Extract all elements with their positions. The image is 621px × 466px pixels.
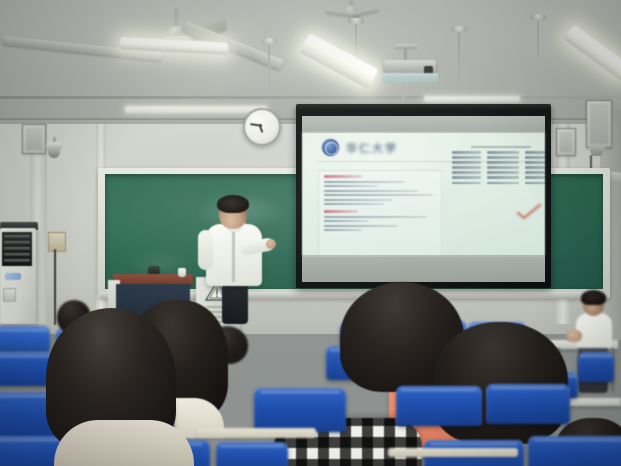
slide-table-cell — [452, 156, 481, 159]
slide-table-cell — [452, 166, 481, 169]
slide-table-cell — [452, 171, 481, 174]
wall-utility-box — [22, 124, 46, 154]
slide-table-row — [452, 161, 545, 164]
slide-table-cell — [487, 176, 519, 179]
slide-table-row — [452, 171, 545, 174]
slide-heading-mark — [324, 175, 362, 178]
slide-table-cell — [525, 156, 545, 159]
university-seal-logo — [322, 139, 339, 156]
slide-text-line — [324, 216, 427, 218]
slide-table-cell — [525, 182, 545, 185]
slide-text-line — [324, 194, 433, 196]
slide-text-line — [324, 199, 393, 201]
auditorium-seat[interactable] — [396, 386, 482, 426]
slide-table-row — [452, 182, 545, 185]
light-mount — [262, 38, 277, 44]
seat-tabletop — [196, 428, 316, 438]
fluorescent-tube-rear — [424, 96, 520, 102]
wall-clock — [243, 108, 281, 146]
presenter-left-arm — [198, 230, 213, 270]
slide-table-row — [452, 156, 545, 159]
screen-top-band — [302, 116, 545, 132]
wall-electrical-box — [586, 100, 612, 148]
slide-table-cell — [452, 151, 481, 154]
slide-table-row — [452, 176, 545, 179]
slide-table-cell — [525, 166, 545, 169]
slide-text-line — [324, 220, 369, 222]
light-mount — [348, 18, 364, 24]
slide-table-cell — [525, 151, 545, 154]
classroom-photo: 华仁大学 — [0, 0, 621, 466]
slide-text-line — [324, 203, 384, 205]
student-foreground-left-shoulder — [54, 420, 194, 466]
projector-cover — [382, 73, 438, 83]
presenter-legs — [222, 282, 248, 324]
slide-table-cell — [487, 156, 519, 159]
ceiling-fan-far — [330, 0, 374, 20]
presenter-shirt — [206, 224, 262, 286]
slide-text-line — [324, 229, 362, 231]
floor-air-conditioner — [0, 228, 36, 324]
slide-text-line — [324, 190, 418, 192]
red-check-mark — [516, 204, 542, 220]
light-rod — [458, 30, 460, 88]
slide-table-cell — [487, 161, 519, 164]
air-conditioner-badge — [5, 273, 21, 280]
projection-screen: 华仁大学 — [296, 110, 551, 288]
ceiling-seam — [0, 96, 621, 99]
slide-table-header-row — [452, 151, 545, 154]
light-rod — [537, 18, 539, 56]
light-rod — [268, 42, 270, 92]
slide-body-text — [318, 170, 442, 256]
light-rod — [355, 22, 357, 56]
auditorium-seat[interactable] — [486, 384, 570, 424]
auditorium-seat[interactable] — [0, 326, 50, 352]
clock-face — [248, 113, 272, 137]
wall-utility-box — [556, 128, 576, 156]
student-arm — [566, 330, 582, 342]
slide-text-line — [324, 181, 405, 183]
air-conditioner-control-panel[interactable] — [3, 288, 16, 302]
auditorium-seat[interactable] — [528, 436, 621, 466]
seat-tabletop — [388, 448, 518, 457]
auditorium-seat[interactable] — [216, 442, 288, 466]
presentation-slide: 华仁大学 — [302, 132, 545, 256]
slide-text-line — [324, 225, 398, 227]
slide-table-row — [452, 166, 545, 169]
slide-table-cell — [452, 182, 481, 185]
slide-table-cell — [452, 161, 481, 164]
cup — [178, 268, 186, 277]
auditorium-seat[interactable] — [254, 388, 346, 432]
slide-table-cell — [487, 151, 519, 154]
shirt-placket — [232, 228, 235, 282]
slide-table-cell — [525, 161, 545, 164]
slide-table — [452, 146, 545, 187]
slide-table-cell — [525, 176, 545, 179]
presenter-hand — [266, 239, 276, 249]
auditorium-seat[interactable] — [578, 352, 614, 382]
slide-table-caption — [471, 146, 532, 148]
student-torso — [576, 313, 612, 348]
wall-outlet[interactable] — [48, 232, 66, 252]
slide-table-cell — [525, 171, 545, 174]
slide-text-line — [324, 185, 378, 187]
slide-table-cell — [487, 171, 519, 174]
light-mount — [451, 26, 467, 32]
fluorescent-tube-rear — [125, 106, 267, 113]
screen-bottom-band — [302, 256, 545, 282]
light-mount — [530, 14, 546, 20]
student-hair — [581, 290, 606, 305]
student-desk — [562, 398, 621, 406]
power-cable — [54, 249, 56, 325]
slide-heading-mark — [324, 210, 358, 213]
air-conditioner-grille — [2, 232, 32, 266]
presenter-hair — [217, 195, 249, 213]
slide-table-cell — [452, 176, 481, 179]
clock-center — [259, 124, 262, 127]
slide-table-cell — [487, 166, 519, 169]
seal-ring — [325, 142, 338, 155]
slide-title: 华仁大学 — [346, 140, 398, 156]
slide-table-cell — [487, 182, 519, 185]
